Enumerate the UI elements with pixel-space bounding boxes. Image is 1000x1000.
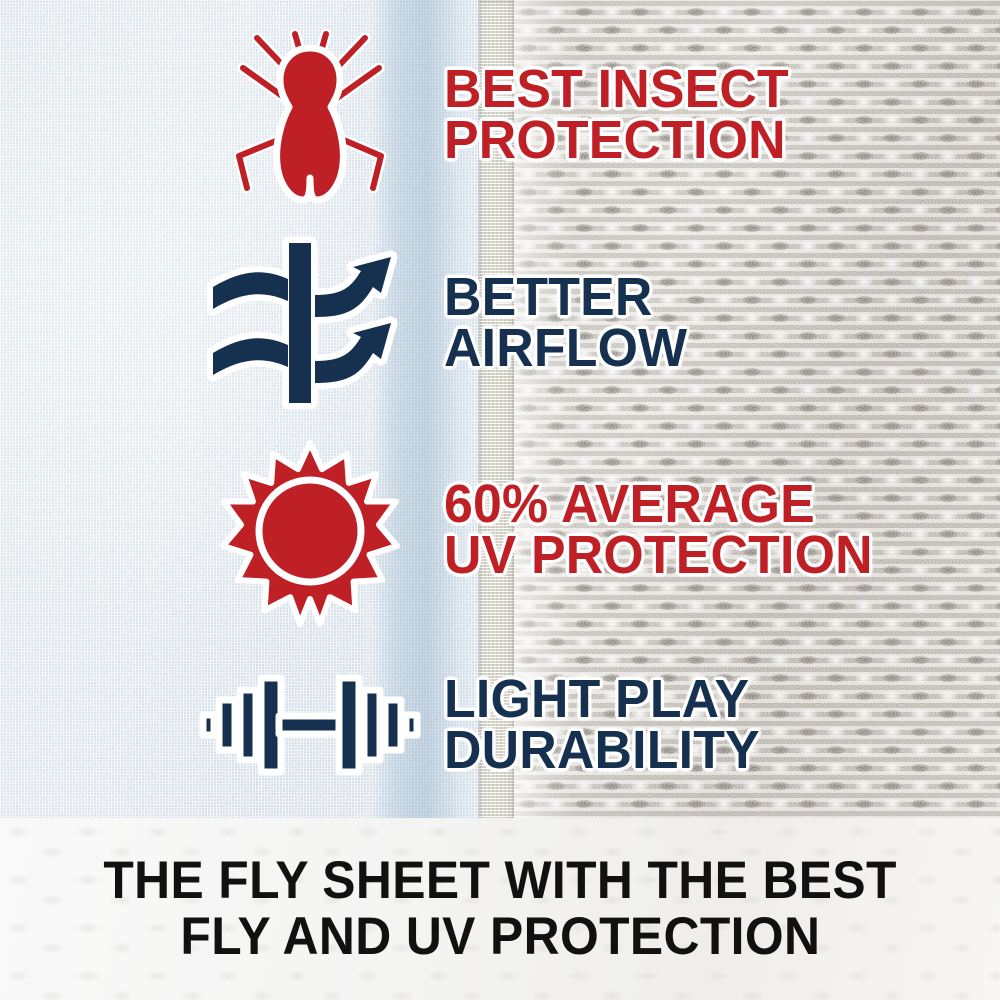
feature-list: BEST INSECT PROTECTION (0, 0, 1000, 818)
feature-label-airflow: BETTER AIRFLOW (444, 272, 687, 374)
dumbbell-icon (200, 672, 420, 778)
feature-label-uv-protection: 60% AVERAGE UV PROTECTION (444, 479, 873, 581)
caption-line-1: THE FLY SHEET WITH THE BEST (103, 853, 897, 909)
airflow-icon (200, 243, 420, 403)
feature-label-durability: LIGHT PLAY DURABILITY (444, 674, 760, 776)
feature-row-airflow: BETTER AIRFLOW (200, 235, 697, 410)
sun-icon (200, 441, 420, 619)
caption-band: THE FLY SHEET WITH THE BEST FLY AND UV P… (0, 818, 1000, 1000)
feature-row-insect-protection: BEST INSECT PROTECTION (200, 20, 803, 210)
fly-icon (200, 22, 420, 208)
feature-row-uv-protection: 60% AVERAGE UV PROTECTION (200, 435, 891, 625)
product-feature-poster: BEST INSECT PROTECTION (0, 0, 1000, 1000)
feature-label-insect-protection: BEST INSECT PROTECTION (444, 64, 789, 166)
caption-line-2: FLY AND UV PROTECTION (180, 909, 820, 965)
feature-row-durability: LIGHT PLAY DURABILITY (200, 650, 773, 800)
